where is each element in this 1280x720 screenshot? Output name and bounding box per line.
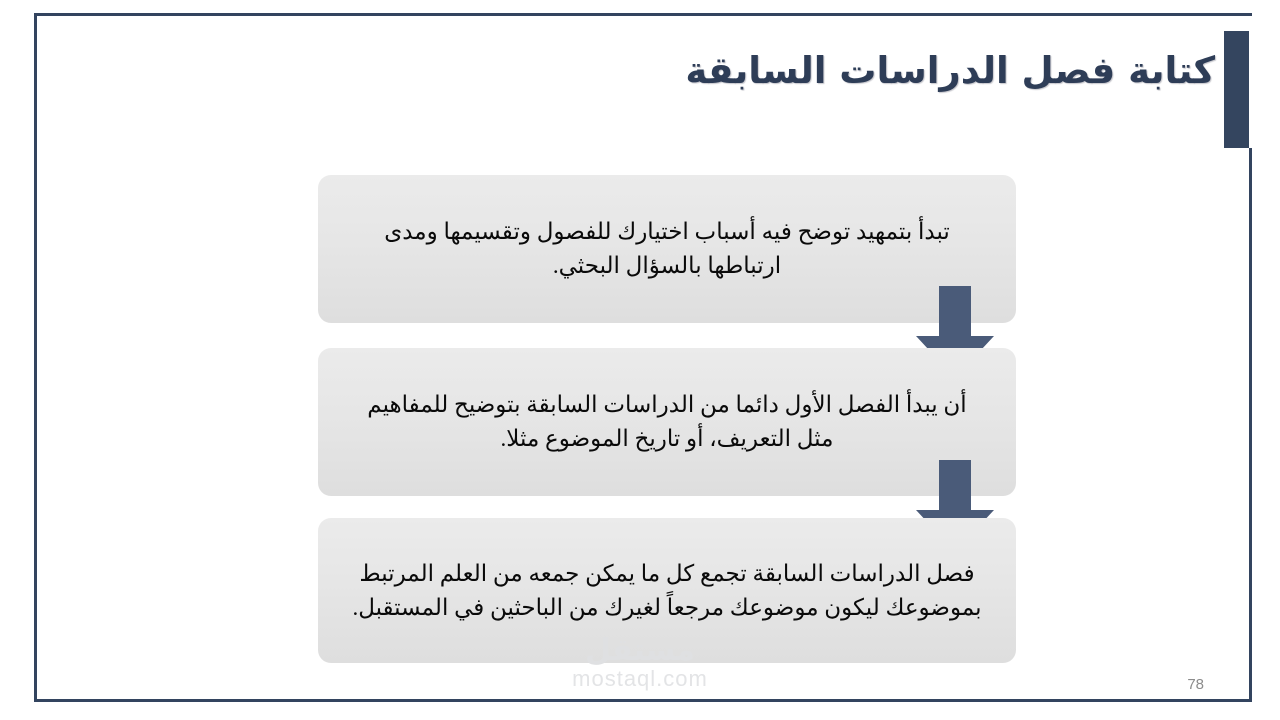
title-accent-bar <box>1224 31 1249 148</box>
process-step-box-3[interactable]: فصل الدراسات السابقة تجمع كل ما يمكن جمع… <box>318 518 1016 663</box>
process-step-text-3: فصل الدراسات السابقة تجمع كل ما يمكن جمع… <box>352 557 982 625</box>
slide-canvas: كتابة فصل الدراسات السابقة تبدأ بتمهيد ت… <box>0 0 1280 720</box>
page-number: 78 <box>1187 676 1204 693</box>
page-title: كتابة فصل الدراسات السابقة <box>315 48 1215 94</box>
process-step-box-1[interactable]: تبدأ بتمهيد توضح فيه أسباب اختيارك للفصو… <box>318 175 1016 323</box>
process-step-text-2: أن يبدأ الفصل الأول دائما من الدراسات ال… <box>352 388 982 456</box>
process-step-text-1: تبدأ بتمهيد توضح فيه أسباب اختيارك للفصو… <box>352 215 982 283</box>
process-step-box-2[interactable]: أن يبدأ الفصل الأول دائما من الدراسات ال… <box>318 348 1016 496</box>
watermark-latin: mostaql.com <box>0 666 1280 692</box>
